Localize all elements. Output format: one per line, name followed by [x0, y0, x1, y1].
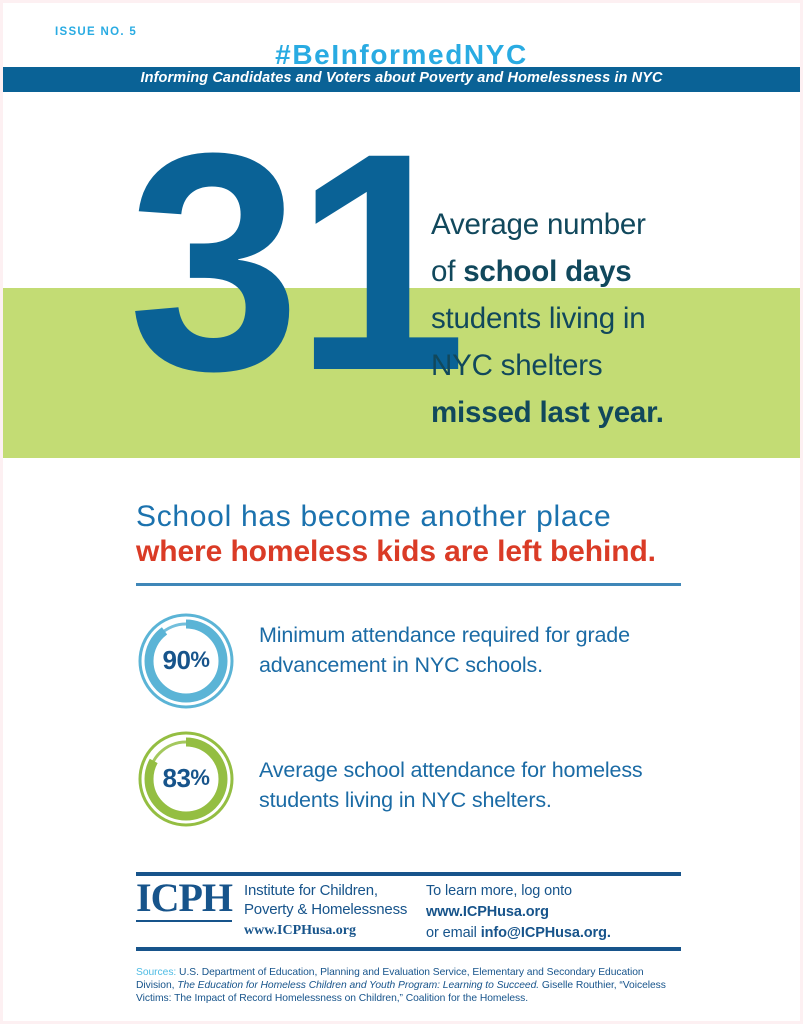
stat-1-line-2: advancement in NYC schools.: [259, 650, 699, 680]
icph-logo-name-line-2: Poverty & Homelessness: [244, 900, 434, 919]
donut-value: 83: [163, 763, 191, 794]
donut-percent-label: 83%: [136, 729, 236, 829]
tagline-text: Informing Candidates and Voters about Po…: [3, 70, 800, 86]
icph-logo-block: ICPH Institute for Children, Poverty & H…: [136, 877, 426, 922]
donut-percent-label: 90%: [136, 611, 236, 711]
hero-line-3: students living in: [431, 295, 731, 342]
contact-line-1: To learn more, log onto www.ICPHusa.org: [426, 881, 686, 923]
stat-1-line-1: Minimum attendance required for grade: [259, 620, 699, 650]
hero-line-2: of school days: [431, 248, 731, 295]
sources-label: Sources:: [136, 967, 176, 978]
donut-percent-symbol: %: [190, 647, 209, 673]
headline-divider: [136, 583, 681, 586]
donut-value: 90: [163, 645, 191, 676]
sources-note: Sources: U.S. Department of Education, P…: [136, 966, 684, 1006]
contact-info: To learn more, log onto www.ICPHusa.org …: [426, 881, 686, 944]
infographic-page: ISSUE NO. 5 #BeInformedNYC Informing Can…: [0, 0, 803, 1024]
donut-percent-symbol: %: [190, 765, 209, 791]
contact-line-2: or email info@ICPHusa.org.: [426, 923, 686, 944]
footer-divider-bottom: [136, 947, 681, 951]
issue-number-label: ISSUE NO. 5: [55, 26, 137, 38]
donut-chart-83: 83%: [136, 729, 236, 829]
hero-statement: Average number of school days students l…: [431, 201, 731, 436]
stat-2-line-2: students living in NYC shelters.: [259, 785, 699, 815]
hero-statistic-number: 31: [128, 107, 428, 417]
donut-chart-90: 90%: [136, 611, 236, 711]
stat-description-2: Average school attendance for homeless s…: [259, 755, 699, 815]
icph-logo-url[interactable]: www.ICPHusa.org: [244, 923, 356, 939]
hero-line-5: missed last year.: [431, 389, 731, 436]
hero-line-1: Average number: [431, 201, 731, 248]
headline-line-1: School has become another place: [136, 499, 696, 534]
email-link[interactable]: info@ICPHusa.org.: [481, 925, 611, 941]
icph-logo-name: Institute for Children, Poverty & Homele…: [244, 881, 434, 919]
stat-description-1: Minimum attendance required for grade ad…: [259, 620, 699, 680]
section-headline: School has become another place where ho…: [136, 499, 696, 569]
icph-logo-mark: ICPH: [136, 877, 232, 922]
hero-line-4: NYC shelters: [431, 342, 731, 389]
sources-title-italic: The Education for Homeless Children and …: [177, 980, 539, 991]
stat-2-line-1: Average school attendance for homeless: [259, 755, 699, 785]
website-link[interactable]: www.ICPHusa.org: [426, 904, 549, 920]
headline-line-2: where homeless kids are left behind.: [136, 534, 696, 569]
icph-logo-name-line-1: Institute for Children,: [244, 881, 434, 900]
